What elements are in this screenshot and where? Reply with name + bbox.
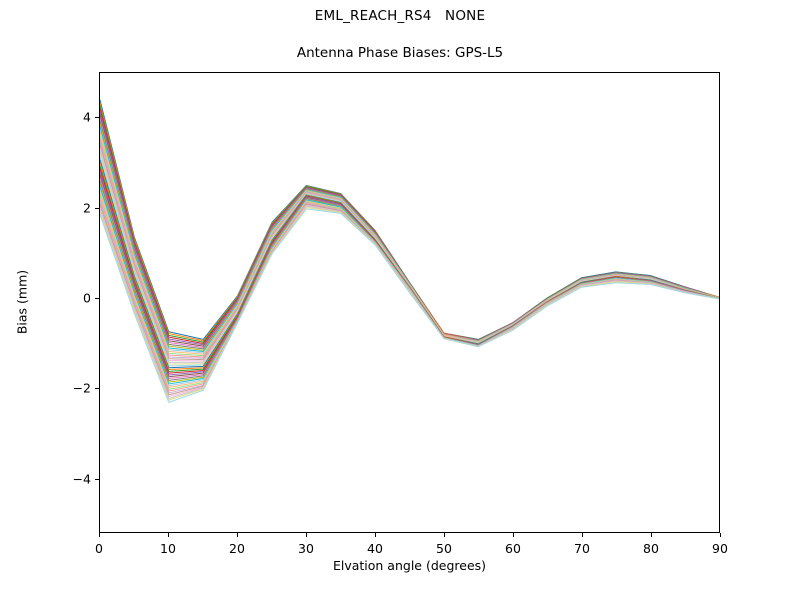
data-line <box>100 133 719 354</box>
data-line <box>100 127 719 352</box>
x-tick-label: 10 <box>148 541 188 556</box>
data-line <box>100 142 719 358</box>
data-line <box>100 148 719 361</box>
y-tick-label: −2 <box>51 381 91 396</box>
axes-title: Antenna Phase Biases: GPS-L5 <box>0 45 800 61</box>
data-line <box>100 112 719 345</box>
y-tick-label: 0 <box>51 290 91 305</box>
x-axis-label: Elvation angle (degrees) <box>99 558 720 573</box>
data-line <box>100 151 719 362</box>
x-tick-mark <box>375 533 376 537</box>
x-tick-label: 40 <box>355 541 395 556</box>
data-line <box>100 106 719 342</box>
x-tick-label: 70 <box>562 541 602 556</box>
data-line <box>100 121 719 349</box>
data-line <box>100 157 719 366</box>
x-tick-label: 60 <box>493 541 533 556</box>
curves-layer <box>100 73 719 532</box>
x-tick-mark <box>237 533 238 537</box>
data-line <box>100 115 719 346</box>
x-tick-mark <box>651 533 652 537</box>
plot-area <box>99 72 720 533</box>
data-line <box>100 145 719 360</box>
figure-canvas: EML_REACH_RS4 NONE Antenna Phase Biases:… <box>0 0 800 600</box>
x-tick-label: 80 <box>631 541 671 556</box>
data-line <box>100 130 719 353</box>
x-tick-mark <box>720 533 721 537</box>
data-line <box>100 209 719 403</box>
x-tick-mark <box>99 533 100 537</box>
y-tick-label: 2 <box>51 200 91 215</box>
x-tick-label: 90 <box>700 541 740 556</box>
data-line <box>100 136 719 356</box>
data-line <box>100 124 719 350</box>
x-tick-mark <box>513 533 514 537</box>
y-tick-label: 4 <box>51 110 91 125</box>
data-line <box>100 103 719 341</box>
y-tick-label: −4 <box>51 471 91 486</box>
data-line <box>100 204 719 394</box>
x-tick-label: 50 <box>424 541 464 556</box>
data-line <box>100 160 719 368</box>
data-line <box>100 109 719 343</box>
x-tick-mark <box>168 533 169 537</box>
data-line <box>100 118 719 348</box>
y-axis-label: Bias (mm) <box>15 270 30 334</box>
x-tick-label: 0 <box>79 541 119 556</box>
data-line <box>100 139 719 357</box>
x-tick-mark <box>582 533 583 537</box>
x-tick-mark <box>444 533 445 537</box>
data-line <box>100 154 719 364</box>
x-tick-label: 20 <box>217 541 257 556</box>
x-tick-label: 30 <box>286 541 326 556</box>
x-tick-mark <box>306 533 307 537</box>
data-line <box>100 100 719 339</box>
figure-suptitle: EML_REACH_RS4 NONE <box>0 8 800 24</box>
data-line <box>100 169 719 373</box>
